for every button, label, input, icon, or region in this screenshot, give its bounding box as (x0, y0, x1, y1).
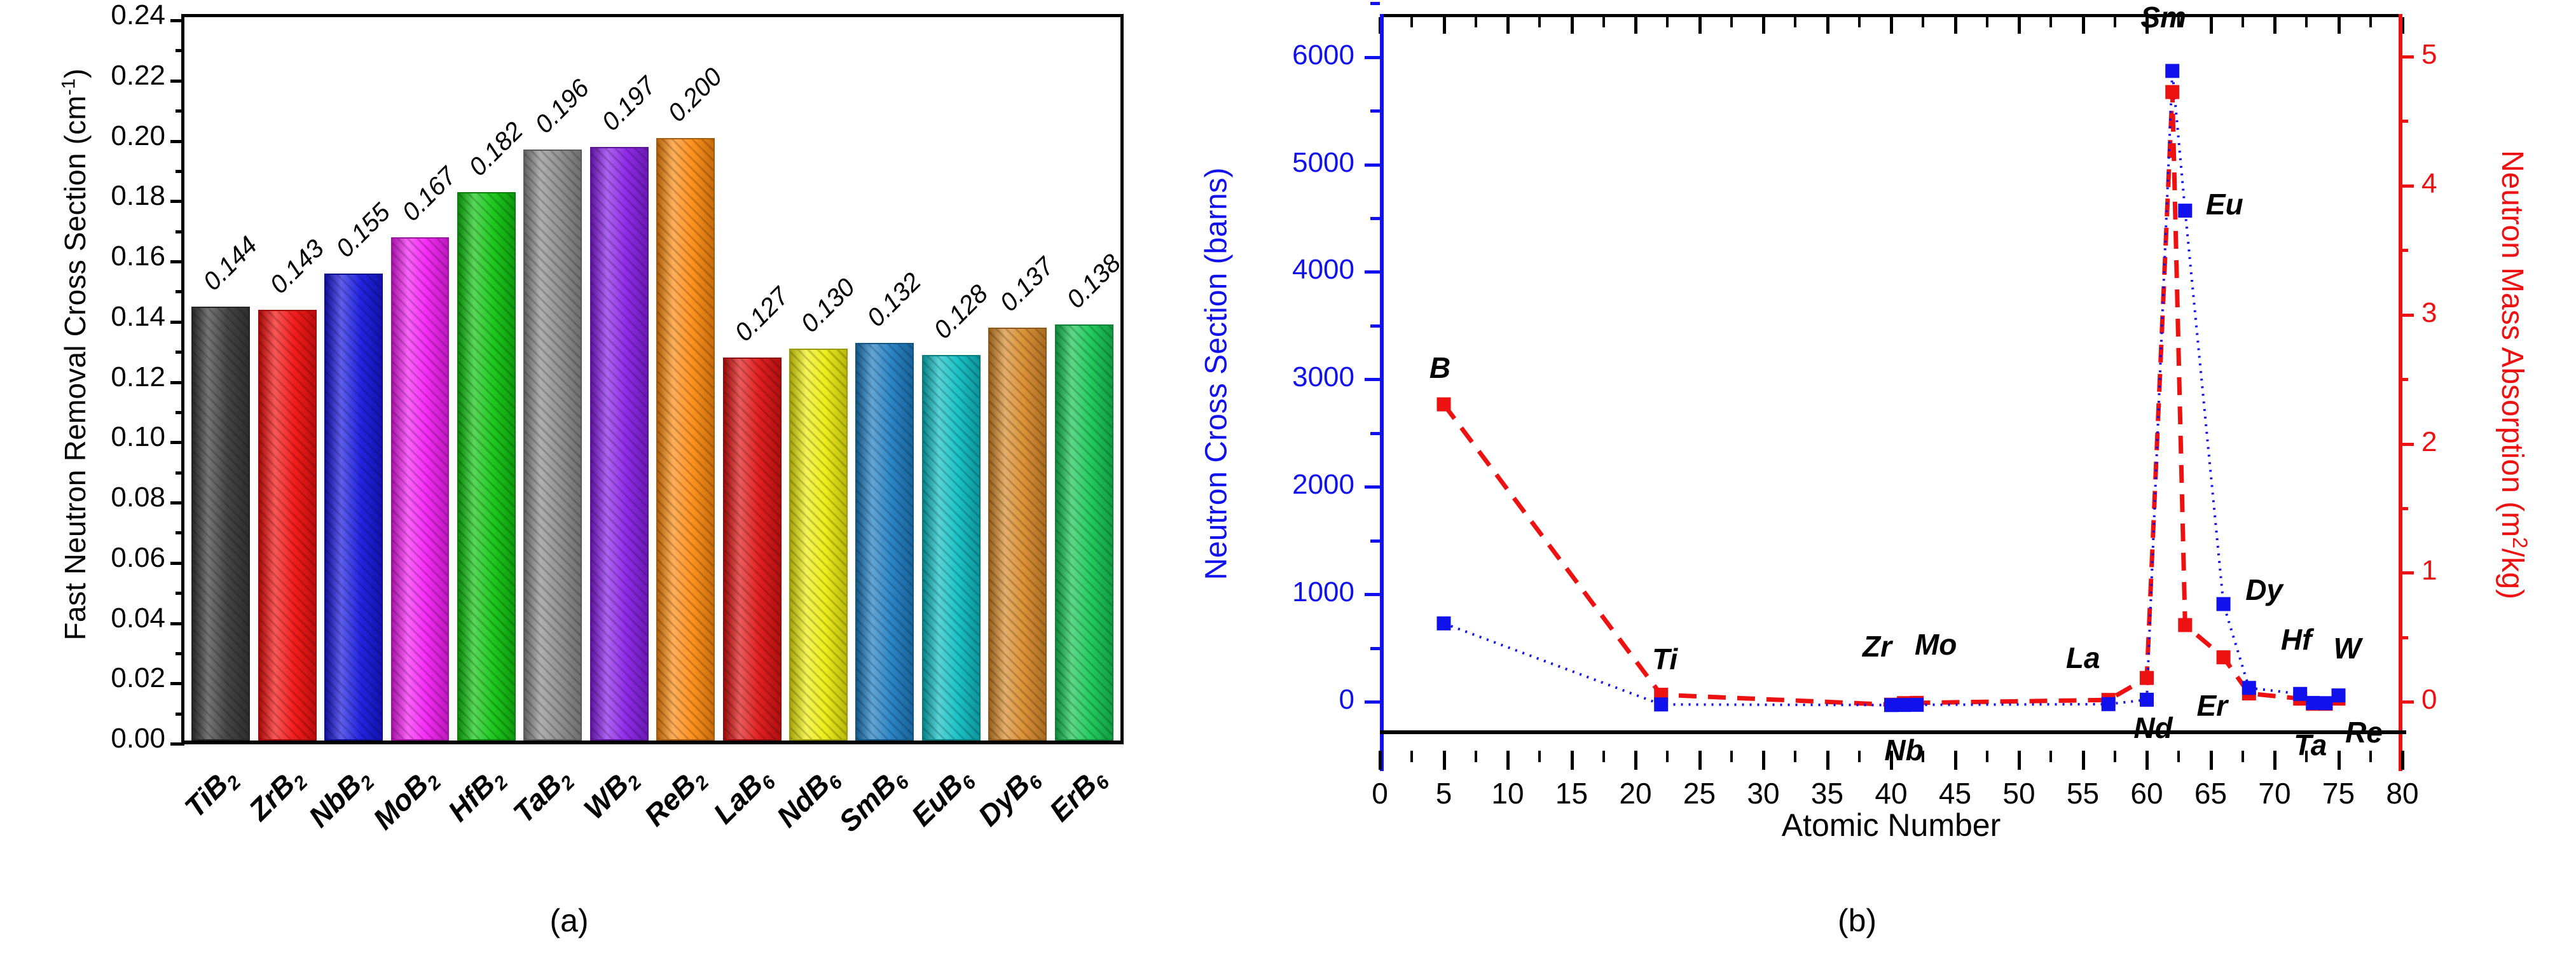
x-axis-category-label: TiB2 (177, 760, 245, 828)
bar-slot: 0.167 (387, 20, 453, 741)
right-axis-tick-minor (2399, 507, 2408, 510)
right-axis-title-units: /kg) (2495, 548, 2529, 599)
y-tick-major (170, 140, 184, 143)
panel-b-plot-area: BTiZrNbMoLaNdSmEuDyErHfTaWRe (1380, 14, 2402, 734)
bar-value-label: 0.138 (1061, 249, 1127, 315)
top-axis-tick-minor (1858, 17, 1861, 27)
top-axis-tick (1571, 17, 1574, 34)
data-point-cross-section[interactable] (2140, 693, 2154, 707)
top-axis-tick (1506, 17, 1510, 34)
bar-slot: 0.127 (719, 20, 785, 741)
series-neutron-mass-absorption-line (1444, 92, 2339, 705)
y-tick-major (170, 200, 184, 203)
bar[interactable] (988, 328, 1047, 741)
top-axis-tick (2210, 17, 2213, 34)
y-tick-major (170, 80, 184, 83)
y-tick-label: 0.20 (6, 120, 165, 152)
x-axis-tick (1954, 751, 1957, 770)
formula-subscript: 2 (624, 772, 646, 794)
y-tick-major (170, 260, 184, 263)
data-point-element-label: Eu (2206, 187, 2243, 221)
x-axis-tick-minor (1730, 751, 1733, 762)
y-tick-major (170, 441, 184, 444)
y-tick-major (170, 321, 184, 324)
bar[interactable] (590, 147, 649, 741)
x-axis-tick (2338, 751, 2341, 770)
top-axis-tick (1826, 17, 1829, 34)
y-tick-major (170, 562, 184, 565)
right-axis-tick (2399, 443, 2414, 446)
bar-slot: 0.197 (586, 20, 652, 741)
left-axis-tick (1365, 270, 1380, 274)
x-axis-category-label: WB2 (577, 760, 646, 829)
formula-subscript: 6 (958, 772, 981, 794)
top-axis-tick (1890, 17, 1893, 34)
formula-subscript: 2 (490, 772, 513, 794)
bar[interactable] (656, 138, 715, 741)
bar-hatch-pattern (458, 193, 514, 739)
category-slot: HfB2 (452, 748, 519, 882)
top-axis-tick (2082, 17, 2085, 34)
data-point-cross-section[interactable] (2306, 696, 2320, 710)
y-tick-minor (176, 531, 184, 534)
panel-b-right-axis-line (2399, 14, 2402, 771)
formula-subscript: 2 (691, 772, 713, 794)
right-axis-tick (2399, 55, 2414, 59)
y-tick-major (170, 19, 184, 22)
data-point-cross-section[interactable] (2242, 681, 2256, 695)
x-axis-tick (1571, 751, 1574, 770)
left-axis-tick (1365, 56, 1380, 59)
bar-slot: 0.155 (320, 20, 387, 741)
top-axis-tick-minor (1794, 17, 1796, 27)
top-axis-tick (2273, 17, 2276, 34)
y-tick-label: 0.18 (6, 180, 165, 212)
data-point-element-label: Ti (1652, 642, 1677, 676)
left-axis-tick-minor (1370, 539, 1380, 543)
top-axis-tick-minor (1666, 17, 1669, 27)
panel-b-line-chart: BTiZrNbMoLaNdSmEuDyErHfTaWRe 01000200030… (1138, 0, 2576, 967)
top-axis-tick-minor (1602, 17, 1605, 27)
x-axis-tick-minor (1602, 751, 1605, 762)
panel-b-right-axis-title: Neutron Mass Absorption (m2/kg) (2495, 18, 2531, 731)
data-point-element-label: Hf (2281, 622, 2312, 657)
bar-hatch-pattern (525, 151, 581, 739)
bar-slot: 0.143 (254, 20, 320, 741)
y-tick-major (170, 381, 184, 384)
left-axis-tick-minor (1370, 217, 1380, 220)
formula-subscript: 6 (824, 772, 846, 794)
data-point-mass-absorption[interactable] (2165, 85, 2179, 99)
data-point-cross-section[interactable] (1897, 698, 1911, 712)
data-point-element-label: W (2334, 631, 2361, 665)
y-tick-minor (176, 49, 184, 52)
bar-hatch-pattern (259, 311, 315, 739)
y-tick-minor (176, 290, 184, 293)
panel-a-bar-chart: Fast Neutron Removal Cross Section (cm-1… (0, 0, 1138, 967)
data-point-mass-absorption[interactable] (2140, 671, 2154, 685)
top-axis-tick (1954, 17, 1957, 34)
left-axis-tick (1365, 700, 1380, 704)
category-slot: EuB6 (920, 748, 987, 882)
right-axis-tick (2399, 184, 2414, 188)
left-axis-tick (1365, 593, 1380, 596)
y-tick-label: 0.08 (6, 482, 165, 513)
bar-hatch-pattern (724, 359, 780, 739)
x-axis-tick-minor (2242, 751, 2244, 762)
panel-a-plot-area: 0.1440.1430.1550.1670.1820.1960.1970.200… (181, 14, 1124, 744)
top-axis-tick (1698, 17, 1702, 34)
y-tick-minor (176, 592, 184, 595)
y-tick-minor (176, 652, 184, 655)
y-tick-label: 0.14 (6, 301, 165, 333)
x-axis-tick-minor (1858, 751, 1861, 762)
bar[interactable] (324, 274, 383, 741)
bar-hatch-pattern (989, 329, 1045, 739)
x-axis-tick (2210, 751, 2213, 770)
bar-hatch-pattern (591, 148, 647, 739)
x-axis-tick (1443, 751, 1446, 770)
x-axis-tick (2273, 751, 2276, 770)
right-axis-tick (2399, 571, 2414, 574)
x-axis-tick (1890, 751, 1893, 770)
data-point-cross-section[interactable] (2102, 697, 2116, 711)
category-slot: DyB6 (987, 748, 1054, 882)
formula-subscript: 6 (1092, 772, 1114, 794)
bar-slot: 0.128 (918, 20, 984, 741)
y-tick-label: 0.22 (6, 60, 165, 92)
bar[interactable] (922, 355, 981, 741)
x-axis-tick (2018, 751, 2021, 770)
x-axis-tick-minor (1986, 751, 1988, 762)
panel-b-left-axis-title: Neutron Cross Section (barns) (1199, 18, 1234, 730)
top-axis-tick-minor (2242, 17, 2244, 27)
left-axis-tick-minor (1370, 432, 1380, 435)
y-tick-label: 0.24 (6, 0, 165, 31)
category-slot: TiB2 (184, 748, 251, 882)
x-axis-tick (1698, 751, 1702, 770)
bar-hatch-pattern (923, 356, 979, 739)
top-axis-tick-minor (1986, 17, 1988, 27)
bar[interactable] (855, 343, 914, 741)
data-point-element-label: Mo (1915, 627, 1957, 662)
panel-b-x-axis-title: Atomic Number (1380, 807, 2402, 844)
top-axis-tick-minor (2305, 17, 2308, 27)
data-point-element-label: Zr (1863, 629, 1892, 664)
y-tick-minor (176, 471, 184, 475)
bar-hatch-pattern (1056, 326, 1112, 739)
category-slot: ErB6 (1054, 748, 1120, 882)
data-point-cross-section[interactable] (2332, 688, 2346, 702)
bar[interactable] (523, 150, 582, 741)
x-axis-tick-label: 80 (2364, 776, 2441, 810)
data-point-element-label: B (1429, 351, 1450, 385)
right-axis-tick-label: 4 (2421, 168, 2466, 200)
data-point-cross-section[interactable] (2178, 204, 2192, 218)
x-axis-tick (2082, 751, 2085, 770)
y-tick-label: 0.00 (6, 723, 165, 755)
bar[interactable] (258, 310, 317, 741)
bar-hatch-pattern (392, 239, 448, 739)
x-axis-tick-minor (1538, 751, 1541, 762)
y-tick-label: 0.16 (6, 240, 165, 272)
panel-b-left-axis-line (1380, 14, 1384, 771)
top-axis-tick-minor (1730, 17, 1733, 27)
y-tick-label: 0.12 (6, 361, 165, 393)
right-axis-tick-minor (2399, 120, 2408, 123)
right-axis-tick-minor (2399, 249, 2408, 252)
category-slot: SmB6 (853, 748, 920, 882)
top-axis-tick-minor (1922, 17, 1924, 27)
y-tick-label: 0.06 (6, 542, 165, 574)
panel-a-caption: (a) (0, 902, 1138, 939)
right-axis-title-text: Neutron Mass Absorption (m (2495, 150, 2529, 537)
top-axis-tick-minor (1410, 17, 1413, 27)
data-point-mass-absorption[interactable] (2178, 618, 2192, 632)
top-axis-tick-minor (2049, 17, 2052, 27)
x-axis-tick-minor (1794, 751, 1796, 762)
y-tick-minor (176, 411, 184, 414)
data-point-element-label: Dy (2245, 573, 2283, 607)
x-axis-tick-minor (2369, 751, 2372, 762)
x-axis-category-label: ZrB2 (242, 760, 312, 830)
bar-slot: 0.137 (984, 20, 1050, 741)
x-axis-tick-minor (1922, 751, 1924, 762)
bar[interactable] (391, 237, 450, 741)
formula-subscript: 2 (356, 772, 378, 794)
y-tick-label: 0.02 (6, 662, 165, 694)
bar-hatch-pattern (326, 275, 382, 739)
y-tick-minor (176, 351, 184, 354)
right-axis-tick (2399, 700, 2414, 704)
bar-slot: 0.144 (188, 20, 254, 741)
left-axis-tick-minor (1370, 324, 1380, 328)
data-point-cross-section[interactable] (1910, 698, 1924, 712)
y-tick-minor (176, 713, 184, 716)
left-axis-tick (1365, 378, 1380, 381)
x-axis-tick (2146, 751, 2149, 770)
formula-subscript: 2 (223, 772, 245, 794)
top-axis-tick (2018, 17, 2021, 34)
top-axis-tick-minor (1475, 17, 1477, 27)
data-point-element-label: Sm (2140, 0, 2186, 34)
x-axis-tick-minor (1666, 751, 1669, 762)
data-point-cross-section[interactable] (2217, 597, 2231, 611)
x-axis-tick-minor (1410, 751, 1413, 762)
bar-slot: 0.200 (652, 20, 719, 741)
y-tick-major (170, 742, 184, 746)
data-point-cross-section[interactable] (2165, 64, 2179, 78)
x-axis-tick (1506, 751, 1510, 770)
top-axis-tick-minor (2114, 17, 2116, 27)
data-point-mass-absorption[interactable] (2217, 650, 2231, 664)
data-point-element-label: La (2066, 641, 2100, 675)
x-axis-tick-minor (2177, 751, 2180, 762)
data-point-cross-section[interactable] (2293, 687, 2307, 701)
x-axis-category-label: HfB2 (441, 760, 513, 831)
data-point-mass-absorption[interactable] (1437, 398, 1451, 412)
left-axis-tick-minor (1370, 647, 1380, 650)
category-slot: WB2 (586, 748, 652, 882)
right-axis-tick-label: 1 (2421, 555, 2466, 587)
category-slot: MoB2 (385, 748, 451, 882)
series-neutron-cross-section-line (1444, 71, 2339, 705)
y-tick-minor (176, 230, 184, 233)
y-tick-major (170, 622, 184, 625)
x-axis-tick (2401, 751, 2404, 770)
right-axis-tick (2399, 314, 2414, 317)
x-axis-tick (1762, 751, 1765, 770)
category-slot: TaB2 (519, 748, 586, 882)
bar-hatch-pattern (193, 308, 249, 739)
figure-canvas: Fast Neutron Removal Cross Section (cm-1… (0, 0, 2576, 967)
formula-subscript: 2 (557, 772, 579, 794)
left-axis-tick (1365, 163, 1380, 167)
panel-a-bars: 0.1440.1430.1550.1670.1820.1960.1970.200… (188, 20, 1117, 741)
x-axis-tick-minor (2049, 751, 2052, 762)
right-axis-tick-minor (2399, 378, 2408, 381)
formula-subscript: 6 (891, 772, 913, 794)
panel-b-bottom-axis-line (1380, 730, 2406, 734)
bar-slot: 0.196 (520, 20, 586, 741)
formula-subscript: 6 (757, 772, 780, 794)
x-axis-tick-minor (1475, 751, 1477, 762)
top-axis-tick (1762, 17, 1765, 34)
right-axis-tick-label: 5 (2421, 39, 2466, 71)
y-tick-major (170, 501, 184, 504)
right-axis-title-superscript: 2 (2509, 537, 2531, 548)
y-tick-major (170, 682, 184, 685)
x-axis-tick-minor (2114, 751, 2116, 762)
bar-hatch-pattern (790, 350, 846, 739)
y-tick-label: 0.04 (6, 602, 165, 634)
bar-hatch-pattern (658, 139, 713, 740)
y-tick-minor (176, 109, 184, 113)
right-axis-tick-label: 0 (2421, 684, 2466, 716)
y-tick-label: 0.10 (6, 421, 165, 453)
x-axis-category-label: ErB6 (1043, 760, 1115, 831)
bar[interactable] (457, 192, 516, 741)
x-axis-tick-minor (2305, 751, 2308, 762)
bar[interactable] (789, 349, 848, 741)
left-axis-tick (1365, 485, 1380, 489)
panel-b-caption: (b) (1138, 902, 2576, 939)
panel-a-category-labels: TiB2ZrB2NbB2MoB2HfB2TaB2WB2ReB2LaB6NdB6S… (184, 748, 1120, 882)
right-axis-tick-label: 2 (2421, 426, 2466, 458)
bar[interactable] (191, 307, 250, 741)
category-slot: ReB2 (652, 748, 719, 882)
bar[interactable] (723, 358, 782, 741)
right-axis-tick-minor (2399, 636, 2408, 639)
bar-slot: 0.130 (785, 20, 851, 741)
left-axis-tick-minor (1370, 109, 1380, 113)
formula-subscript: 2 (289, 772, 312, 794)
data-point-cross-section[interactable] (1884, 698, 1898, 712)
formula-subscript: 2 (423, 772, 445, 794)
data-point-cross-section[interactable] (1654, 697, 1668, 711)
bar-slot: 0.132 (851, 20, 918, 741)
bar-slot: 0.138 (1050, 20, 1117, 741)
data-point-cross-section[interactable] (2318, 696, 2332, 710)
y-tick-minor (176, 170, 184, 173)
bar-hatch-pattern (857, 344, 913, 739)
bar-slot: 0.182 (453, 20, 520, 741)
data-point-element-label: Er (2197, 688, 2228, 723)
top-axis-tick (1634, 17, 1637, 34)
top-axis-tick (2338, 17, 2341, 34)
right-axis-tick-label: 3 (2421, 297, 2466, 329)
formula-subscript: 6 (1025, 772, 1047, 794)
x-axis-tick (1379, 751, 1382, 770)
data-point-element-label: Nd (2133, 711, 2172, 745)
top-axis-tick (1443, 17, 1446, 34)
data-point-cross-section[interactable] (1437, 616, 1451, 630)
top-axis-tick-minor (1538, 17, 1541, 27)
top-axis-tick-minor (2369, 17, 2372, 27)
x-axis-tick (1826, 751, 1829, 770)
x-axis-tick (1634, 751, 1637, 770)
left-axis-tick-minor (1370, 2, 1380, 5)
bar[interactable] (1055, 324, 1113, 741)
